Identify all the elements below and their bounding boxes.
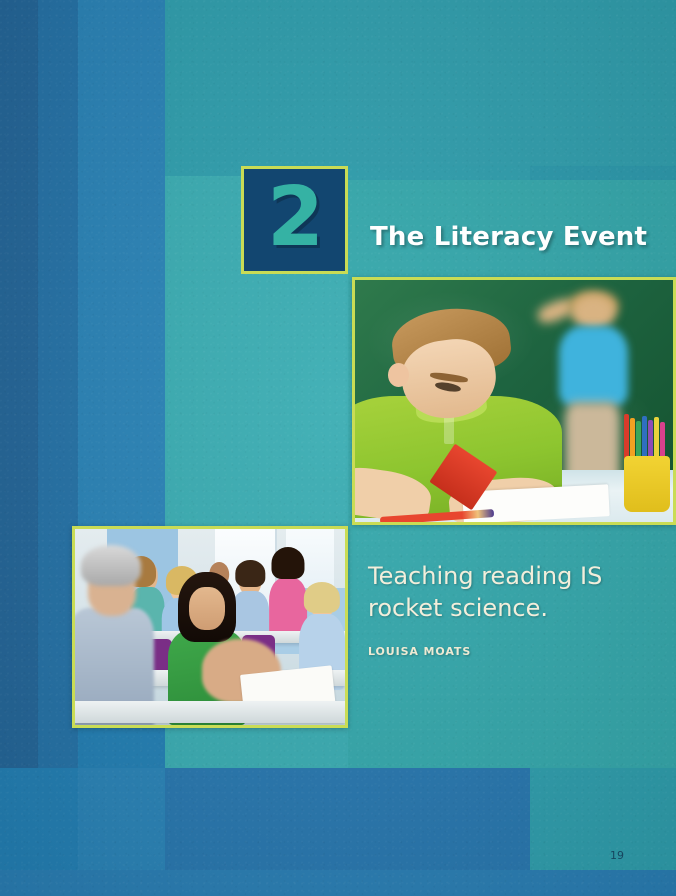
classroom-desk-front [75, 701, 345, 723]
chapter-opener-page: 2 The Literacy Event [0, 0, 676, 896]
teacher-figure [75, 541, 156, 725]
background-block-teal-top-right [530, 0, 676, 180]
pull-quote-line-2: rocket science. [368, 592, 668, 624]
yellow-pencil-cup [624, 456, 670, 512]
background-block-blue-bottom [0, 768, 676, 896]
pull-quote-line-1: Teaching reading IS [368, 560, 668, 592]
background-block-teal-bottom-right [530, 768, 676, 876]
chapter-number: 2 [267, 177, 322, 259]
background-block-blue-left [0, 0, 165, 896]
boy-writing-photo [352, 277, 676, 525]
student-hair [304, 582, 340, 613]
background-block-left-edge-inner [38, 0, 78, 896]
background-block-teal-top [165, 0, 676, 180]
background-block-left-edge [0, 0, 38, 896]
student-hair [272, 547, 305, 579]
background-block-blue-bottom-mid [165, 768, 530, 896]
boy-writing-photo-content [355, 280, 673, 522]
background-block-bottom-band [0, 870, 676, 896]
pull-quote-attribution: LOUISA MOATS [368, 645, 471, 658]
chapter-title: The Literacy Event [370, 222, 647, 252]
page-number: 19 [610, 849, 624, 862]
teacher-hair [81, 545, 142, 586]
background-block-blue-column [78, 0, 165, 530]
foreground-student-face [189, 587, 225, 630]
classroom-photo-content [75, 529, 345, 725]
pull-quote: Teaching reading IS rocket science. [368, 560, 668, 624]
chapter-number-badge: 2 [241, 166, 348, 274]
student-right-hair [294, 582, 345, 615]
classroom-discussion-photo [72, 526, 348, 728]
background-student-head [572, 295, 615, 331]
background-block-teal-upper [348, 0, 676, 166]
student-back-5-hair [264, 547, 313, 582]
background-block-blue-bottom-left [78, 768, 165, 896]
